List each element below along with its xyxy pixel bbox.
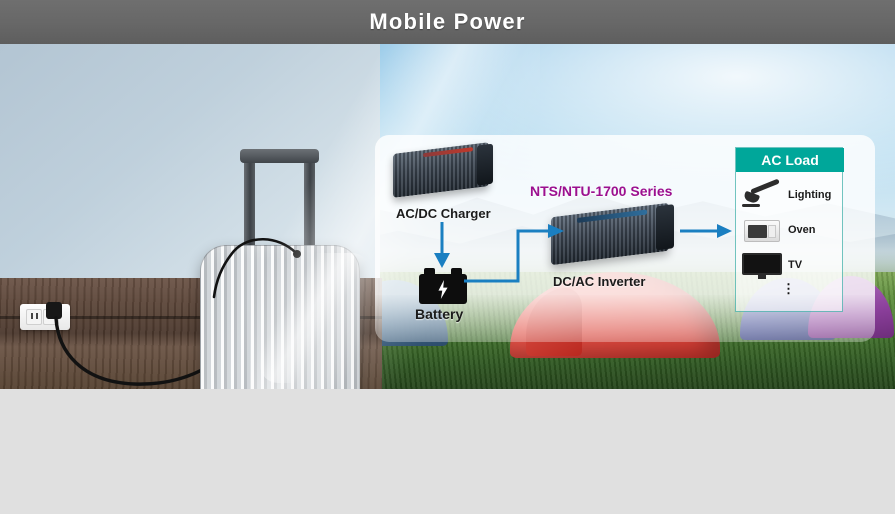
ac-load-item-tv: TV [736,248,844,282]
ac-load-more-ellipsis: ⋮ [782,286,795,292]
page-header: Mobile Power [0,0,895,44]
charger-end-cap [477,144,493,186]
ac-load-item-label: TV [788,259,802,271]
page-title: Mobile Power [369,9,525,35]
outlet-socket-left [26,309,42,325]
ac-load-title: AC Load [736,148,844,172]
hero-battery-icon [419,268,467,304]
inverter-end-cap [656,204,674,250]
ac-load-item-oven: Oven [736,213,844,247]
charger-stripe [423,147,473,157]
ac-load-item-label: Lighting [788,189,831,201]
lamp-icon [736,178,788,212]
hero-battery-label: Battery [415,306,463,322]
page-root: Mobile Power [0,0,895,514]
wall-outlet [20,304,70,330]
ac-load-item-lighting: Lighting [736,178,844,212]
flow-diagram: AC Grid AC/DC Charger NPB/NPP-1700 Serie… [0,389,895,514]
suitcase-handle-grip [240,149,319,163]
suitcase-cable [200,229,320,299]
hero-illustration: AC/DC Charger DC/AC Inverter NTS/NTU-170… [0,44,895,389]
tv-icon [736,248,788,282]
hero-series-label: NTS/NTU-1700 Series [530,183,672,199]
hero-inverter-label: DC/AC Inverter [553,274,645,289]
power-plug [46,302,62,319]
ac-load-item-label: Oven [788,224,816,236]
ac-load-panel: AC Load Lighting Oven TV ⋮ [735,147,843,312]
hero-charger-label: AC/DC Charger [396,206,491,221]
microwave-oven-icon [736,213,788,247]
